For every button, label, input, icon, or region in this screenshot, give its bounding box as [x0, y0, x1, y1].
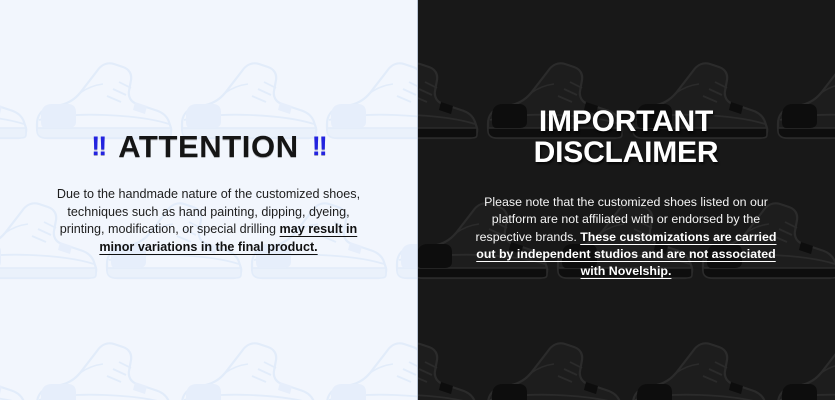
attention-title-row: !! ATTENTION !!: [91, 131, 325, 162]
attention-panel: !! ATTENTION !! Due to the handmade natu…: [0, 0, 417, 400]
disclaimer-panel: IMPORTANT DISCLAIMER Please note that th…: [417, 0, 835, 400]
disclaimer-heading-line2: DISCLAIMER: [534, 138, 719, 169]
disclaimer-heading-line1: IMPORTANT: [534, 107, 719, 138]
attention-content: !! ATTENTION !! Due to the handmade natu…: [0, 0, 417, 400]
attention-heading: ATTENTION: [118, 131, 298, 162]
disclaimer-banner: !! ATTENTION !! Due to the handmade natu…: [0, 0, 835, 400]
double-exclamation-left-icon: !!: [91, 133, 105, 160]
disclaimer-content: IMPORTANT DISCLAIMER Please note that th…: [417, 0, 835, 400]
double-exclamation-right-icon: !!: [312, 133, 326, 160]
disclaimer-heading: IMPORTANT DISCLAIMER: [534, 107, 719, 169]
attention-body: Due to the handmade nature of the custom…: [53, 186, 365, 256]
disclaimer-body: Please note that the customized shoes li…: [465, 194, 787, 280]
panel-divider: [417, 0, 418, 400]
